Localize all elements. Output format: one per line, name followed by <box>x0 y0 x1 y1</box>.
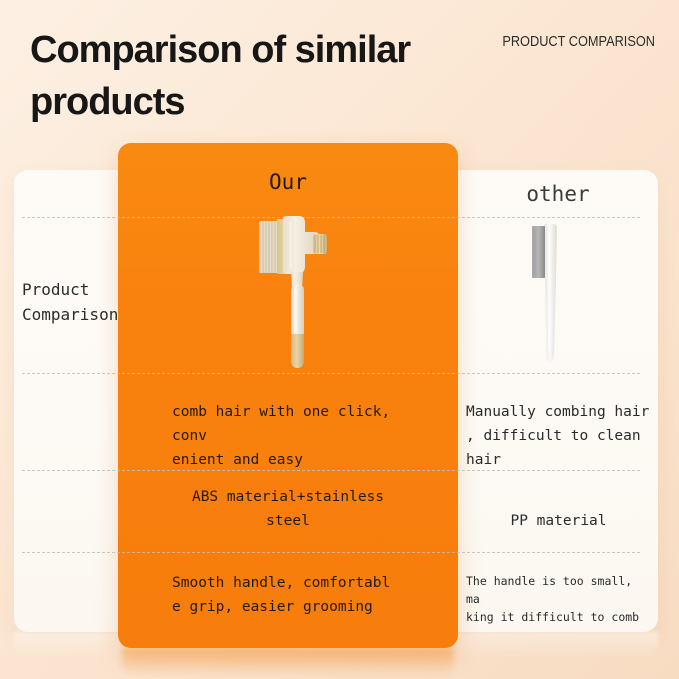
header: Comparison of similar products PRODUCT C… <box>0 0 679 140</box>
cell-other-handle: The handle is too small, ma king it diff… <box>466 572 651 626</box>
comparison-infographic: Comparison of similar products PRODUCT C… <box>0 0 679 679</box>
other-product-image <box>528 222 572 364</box>
header-kicker: PRODUCT COMPARISON <box>479 33 655 51</box>
cell-our-handle: Smooth handle, comfortabl e grip, easier… <box>172 571 404 619</box>
orange-card-reflection <box>122 648 454 676</box>
page-title: Comparison of similar products <box>30 24 470 128</box>
cell-our-usage: comb hair with one click, conv enient an… <box>172 400 404 472</box>
cell-our-material: ABS material+stainless steel <box>172 485 404 533</box>
cell-other-usage: Manually combing hair , difficult to cle… <box>466 400 651 472</box>
column-header-our: Our <box>118 170 458 194</box>
cell-other-material: PP material <box>466 509 651 533</box>
row-divider-4 <box>22 552 640 553</box>
row-label-product-comparison: Product Comparison <box>22 277 118 327</box>
our-product-image <box>253 216 345 374</box>
column-header-other: other <box>458 182 658 206</box>
